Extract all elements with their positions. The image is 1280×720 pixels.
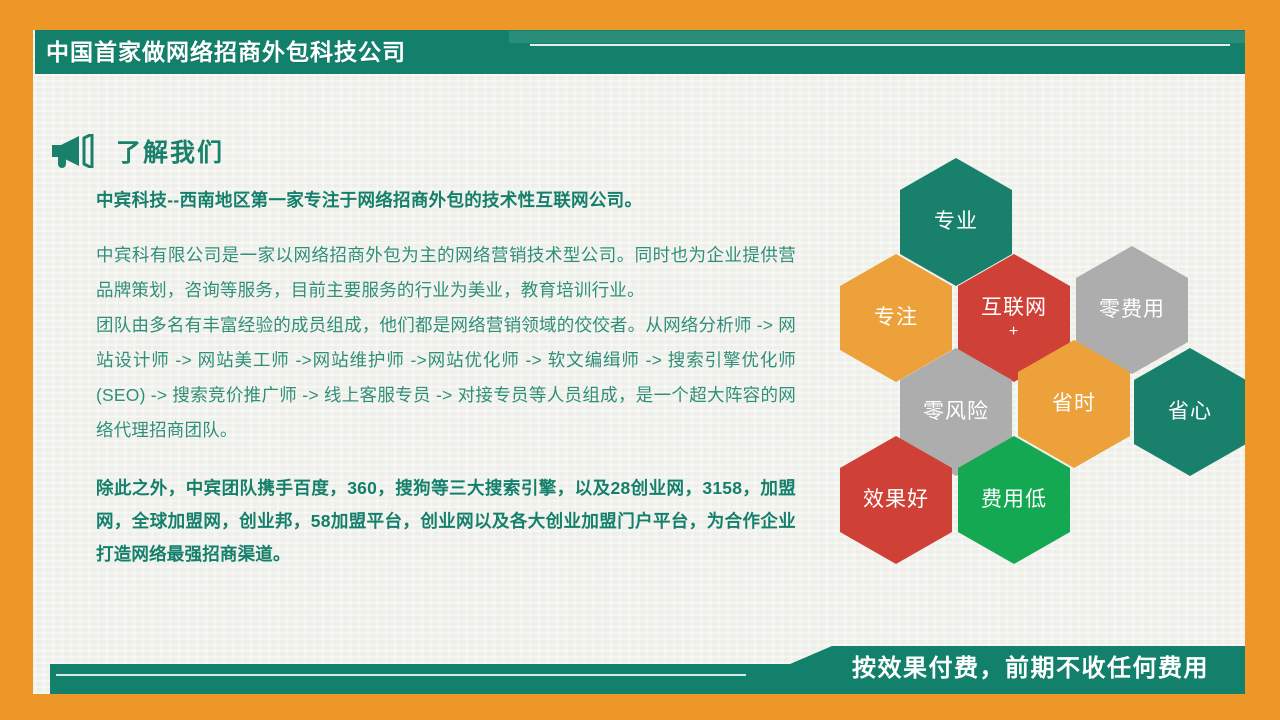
hexagon-sublabel: + <box>1009 323 1019 341</box>
slide-root: 中国首家做网络招商外包科技公司 了解我们 中宾科技--西南地区第一家专注于网络招… <box>0 0 1280 720</box>
section-heading: 了解我们 <box>50 133 224 169</box>
hexagon-label: 专业 <box>934 209 978 235</box>
frame-edge-top <box>0 0 1280 30</box>
hexagon-tile: 省心 <box>1134 348 1246 476</box>
hexagon-label: 省心 <box>1168 399 1212 425</box>
frame-edge-bottom <box>0 694 1280 720</box>
about-text-column: 中宾科技--西南地区第一家专注于网络招商外包的技术性互联网公司。 中宾科有限公司… <box>96 186 796 571</box>
about-paragraph-2: 团队由多名有丰富经验的成员组成，他们都是网络营销领域的佼佼者。从网络分析师 ->… <box>96 308 796 448</box>
section-title-label: 了解我们 <box>116 133 224 169</box>
hexagon-label: 省时 <box>1052 391 1096 417</box>
frame-edge-left <box>0 0 33 720</box>
about-lead: 中宾科技--西南地区第一家专注于网络招商外包的技术性互联网公司。 <box>96 186 796 214</box>
hexagon-label: 效果好 <box>863 487 929 513</box>
footer-slogan: 按效果付费，前期不收任何费用 <box>852 650 1209 688</box>
hexagon-label: 互联网 <box>981 295 1047 321</box>
hexagon-label: 专注 <box>874 305 918 331</box>
hexagon-label: 费用低 <box>981 487 1047 513</box>
about-paragraph-1: 中宾科有限公司是一家以网络招商外包为主的网络营销技术型公司。同时也为企业提供营品… <box>96 238 796 308</box>
page-title: 中国首家做网络招商外包科技公司 <box>46 34 406 70</box>
benefits-hexagon-cluster: 专业专注互联网+零费用零风险省时省心效果好费用低 <box>828 158 1248 538</box>
hexagon-label: 零风险 <box>923 399 989 425</box>
header-sheen <box>509 31 1249 43</box>
footer-hairline <box>56 674 746 676</box>
about-closing: 除此之外，中宾团队携手百度，360，搜狗等三大搜索引擎，以及28创业网，3158… <box>96 472 796 571</box>
megaphone-icon <box>50 134 94 168</box>
frame-edge-right <box>1245 0 1280 720</box>
header-hairline <box>530 44 1230 46</box>
hexagon-label: 零费用 <box>1099 297 1165 323</box>
